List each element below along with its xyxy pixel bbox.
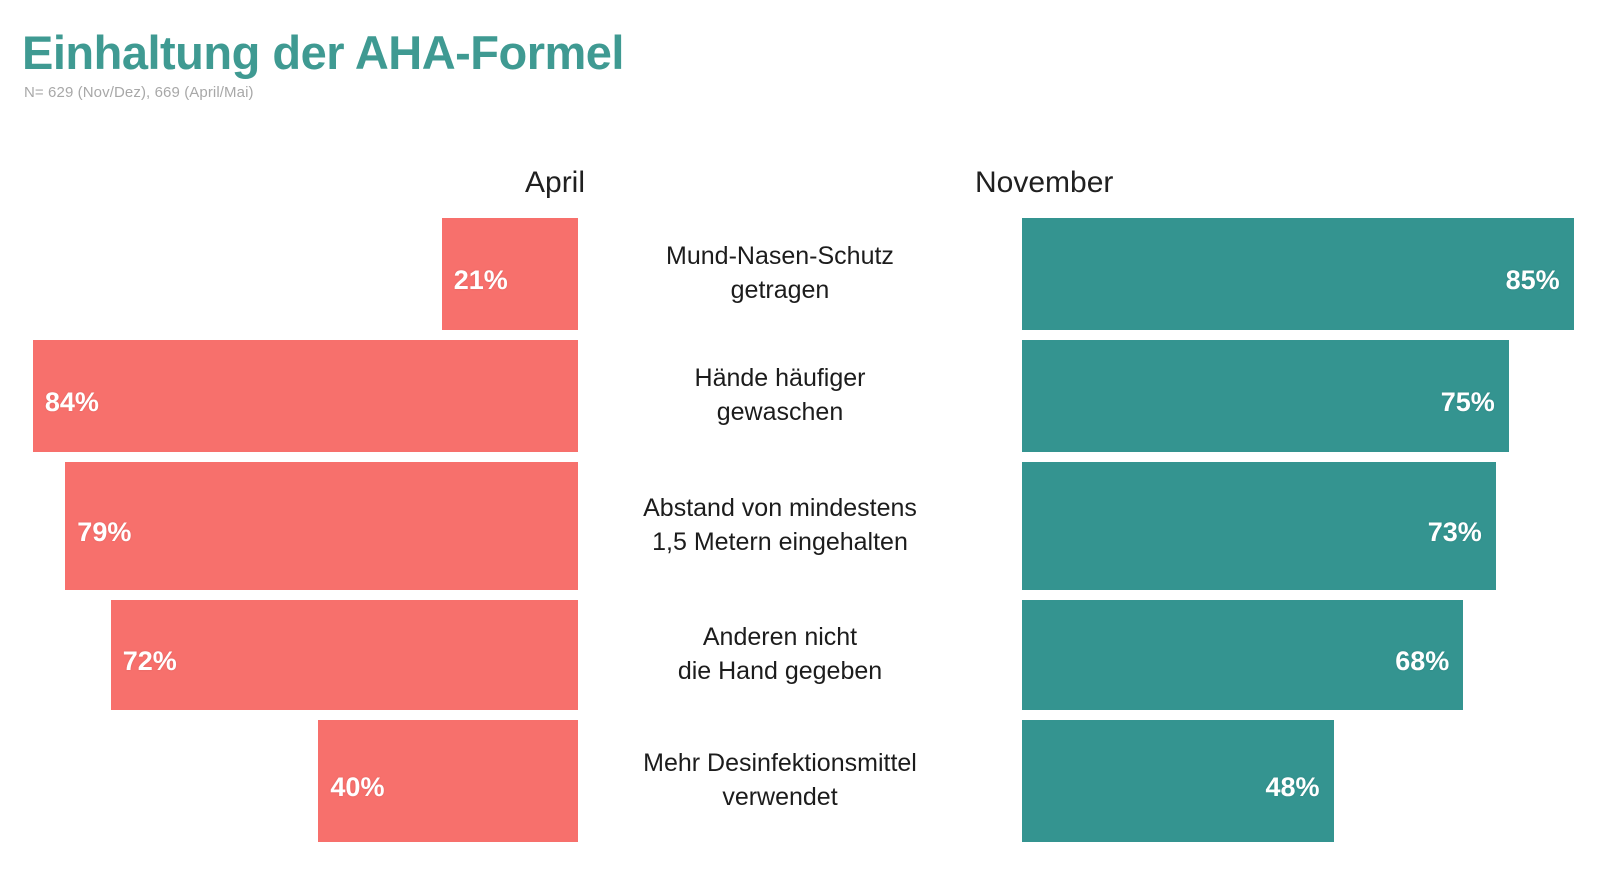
bar-november[interactable]: 85% xyxy=(1022,218,1574,330)
category-label: Mund-Nasen-Schutzgetragen xyxy=(590,218,970,330)
category-label-line2: verwendet xyxy=(722,781,837,815)
bar-april[interactable]: 79% xyxy=(65,462,578,590)
bar-april[interactable]: 21% xyxy=(442,218,578,330)
bar-value-april: 84% xyxy=(45,389,99,416)
category-label: Abstand von mindestens1,5 Metern eingeha… xyxy=(590,462,970,590)
category-label-line1: Mund-Nasen-Schutz xyxy=(666,240,894,274)
column-heading-november: November xyxy=(975,166,1113,200)
category-label: Anderen nichtdie Hand gegeben xyxy=(590,600,970,710)
page-title: Einhaltung der AHA-Formel xyxy=(22,28,922,77)
bar-value-april: 40% xyxy=(330,774,384,801)
category-label-line2: 1,5 Metern eingehalten xyxy=(652,526,908,560)
category-label-line2: getragen xyxy=(731,274,830,308)
bar-value-november: 48% xyxy=(1265,774,1319,801)
category-label-line1: Anderen nicht xyxy=(703,621,857,655)
bar-value-april: 21% xyxy=(454,267,508,294)
chart-subtitle: N= 629 (Nov/Dez), 669 (April/Mai) xyxy=(24,84,922,101)
bar-value-april: 72% xyxy=(123,648,177,675)
chart-plot-area: 21%85%Mund-Nasen-Schutzgetragen84%75%Hän… xyxy=(0,218,1600,852)
bar-november[interactable]: 75% xyxy=(1022,340,1509,452)
category-label: Hände häufigergewaschen xyxy=(590,340,970,452)
category-label-line2: die Hand gegeben xyxy=(678,655,882,689)
bar-april[interactable]: 84% xyxy=(33,340,578,452)
bar-value-november: 85% xyxy=(1506,267,1560,294)
category-label-line1: Abstand von mindestens xyxy=(643,492,917,526)
category-label-line1: Hände häufiger xyxy=(695,362,866,396)
category-label-line2: gewaschen xyxy=(717,396,843,430)
category-label-line1: Mehr Desinfektionsmittel xyxy=(643,747,917,781)
bar-november[interactable]: 68% xyxy=(1022,600,1463,710)
column-heading-april: April xyxy=(525,166,585,200)
bar-value-april: 79% xyxy=(77,519,131,546)
chart-row: 40%48%Mehr Desinfektionsmittelverwendet xyxy=(0,720,1600,842)
category-label: Mehr Desinfektionsmittelverwendet xyxy=(590,720,970,842)
chart-row: 79%73%Abstand von mindestens1,5 Metern e… xyxy=(0,462,1600,590)
bar-november[interactable]: 73% xyxy=(1022,462,1496,590)
bar-value-november: 75% xyxy=(1441,389,1495,416)
bar-november[interactable]: 48% xyxy=(1022,720,1334,842)
chart-row: 21%85%Mund-Nasen-Schutzgetragen xyxy=(0,218,1600,330)
chart-page: Einhaltung der AHA-Formel N= 629 (Nov/De… xyxy=(0,0,1600,890)
chart-header: Einhaltung der AHA-Formel N= 629 (Nov/De… xyxy=(22,28,922,101)
bar-april[interactable]: 72% xyxy=(111,600,578,710)
bar-april[interactable]: 40% xyxy=(318,720,578,842)
bar-value-november: 73% xyxy=(1428,519,1482,546)
chart-row: 72%68%Anderen nichtdie Hand gegeben xyxy=(0,600,1600,710)
chart-row: 84%75%Hände häufigergewaschen xyxy=(0,340,1600,452)
bar-value-november: 68% xyxy=(1395,648,1449,675)
